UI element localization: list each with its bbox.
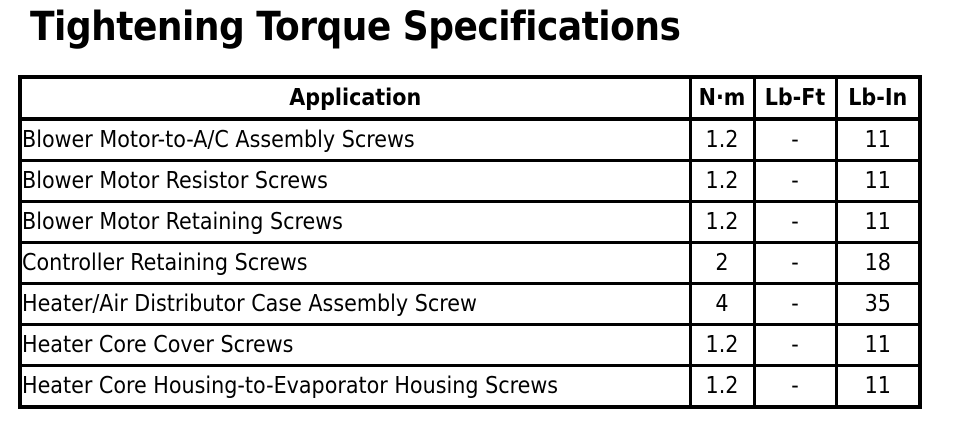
column-header-pound-inches: Lb-In bbox=[836, 77, 920, 119]
table-row: Blower Motor-to-A/C Assembly Screws 1.2 … bbox=[20, 119, 920, 161]
cell-newton-meters: 1.2 bbox=[690, 202, 754, 243]
cell-pound-feet: - bbox=[754, 366, 836, 408]
cell-pound-inches: 35 bbox=[836, 284, 920, 325]
table-row: Heater Core Housing-to-Evaporator Housin… bbox=[20, 366, 920, 408]
cell-pound-inches: 18 bbox=[836, 243, 920, 284]
cell-application: Heater/Air Distributor Case Assembly Scr… bbox=[20, 284, 690, 325]
cell-application: Blower Motor Resistor Screws bbox=[20, 161, 690, 202]
tightening-torque-specifications-table: Application N·m Lb-Ft Lb-In Blower Motor… bbox=[18, 75, 922, 409]
column-header-application: Application bbox=[20, 77, 690, 119]
table-row: Blower Motor Retaining Screws 1.2 - 11 bbox=[20, 202, 920, 243]
column-header-newton-meters: N·m bbox=[690, 77, 754, 119]
table-body: Blower Motor-to-A/C Assembly Screws 1.2 … bbox=[20, 119, 920, 407]
cell-pound-inches: 11 bbox=[836, 119, 920, 161]
cell-newton-meters: 1.2 bbox=[690, 161, 754, 202]
cell-application: Controller Retaining Screws bbox=[20, 243, 690, 284]
cell-application: Blower Motor Retaining Screws bbox=[20, 202, 690, 243]
cell-application: Heater Core Cover Screws bbox=[20, 325, 690, 366]
cell-pound-feet: - bbox=[754, 243, 836, 284]
torque-table-container: Application N·m Lb-Ft Lb-In Blower Motor… bbox=[18, 75, 922, 409]
cell-newton-meters: 1.2 bbox=[690, 366, 754, 408]
table-row: Controller Retaining Screws 2 - 18 bbox=[20, 243, 920, 284]
table-row: Heater/Air Distributor Case Assembly Scr… bbox=[20, 284, 920, 325]
page-title: Tightening Torque Specifications bbox=[30, 2, 680, 52]
cell-newton-meters: 1.2 bbox=[690, 119, 754, 161]
cell-pound-inches: 11 bbox=[836, 202, 920, 243]
table-row: Blower Motor Resistor Screws 1.2 - 11 bbox=[20, 161, 920, 202]
table-header: Application N·m Lb-Ft Lb-In bbox=[20, 77, 920, 119]
column-header-pound-feet: Lb-Ft bbox=[754, 77, 836, 119]
cell-pound-feet: - bbox=[754, 325, 836, 366]
cell-pound-inches: 11 bbox=[836, 366, 920, 408]
cell-newton-meters: 2 bbox=[690, 243, 754, 284]
cell-newton-meters: 4 bbox=[690, 284, 754, 325]
cell-application: Heater Core Housing-to-Evaporator Housin… bbox=[20, 366, 690, 408]
cell-pound-feet: - bbox=[754, 119, 836, 161]
table-row: Heater Core Cover Screws 1.2 - 11 bbox=[20, 325, 920, 366]
cell-pound-feet: - bbox=[754, 161, 836, 202]
cell-pound-inches: 11 bbox=[836, 161, 920, 202]
page-root: Tightening Torque Specifications Applica… bbox=[0, 0, 960, 432]
cell-application: Blower Motor-to-A/C Assembly Screws bbox=[20, 119, 690, 161]
cell-newton-meters: 1.2 bbox=[690, 325, 754, 366]
cell-pound-feet: - bbox=[754, 202, 836, 243]
cell-pound-feet: - bbox=[754, 284, 836, 325]
cell-pound-inches: 11 bbox=[836, 325, 920, 366]
table-header-row: Application N·m Lb-Ft Lb-In bbox=[20, 77, 920, 119]
